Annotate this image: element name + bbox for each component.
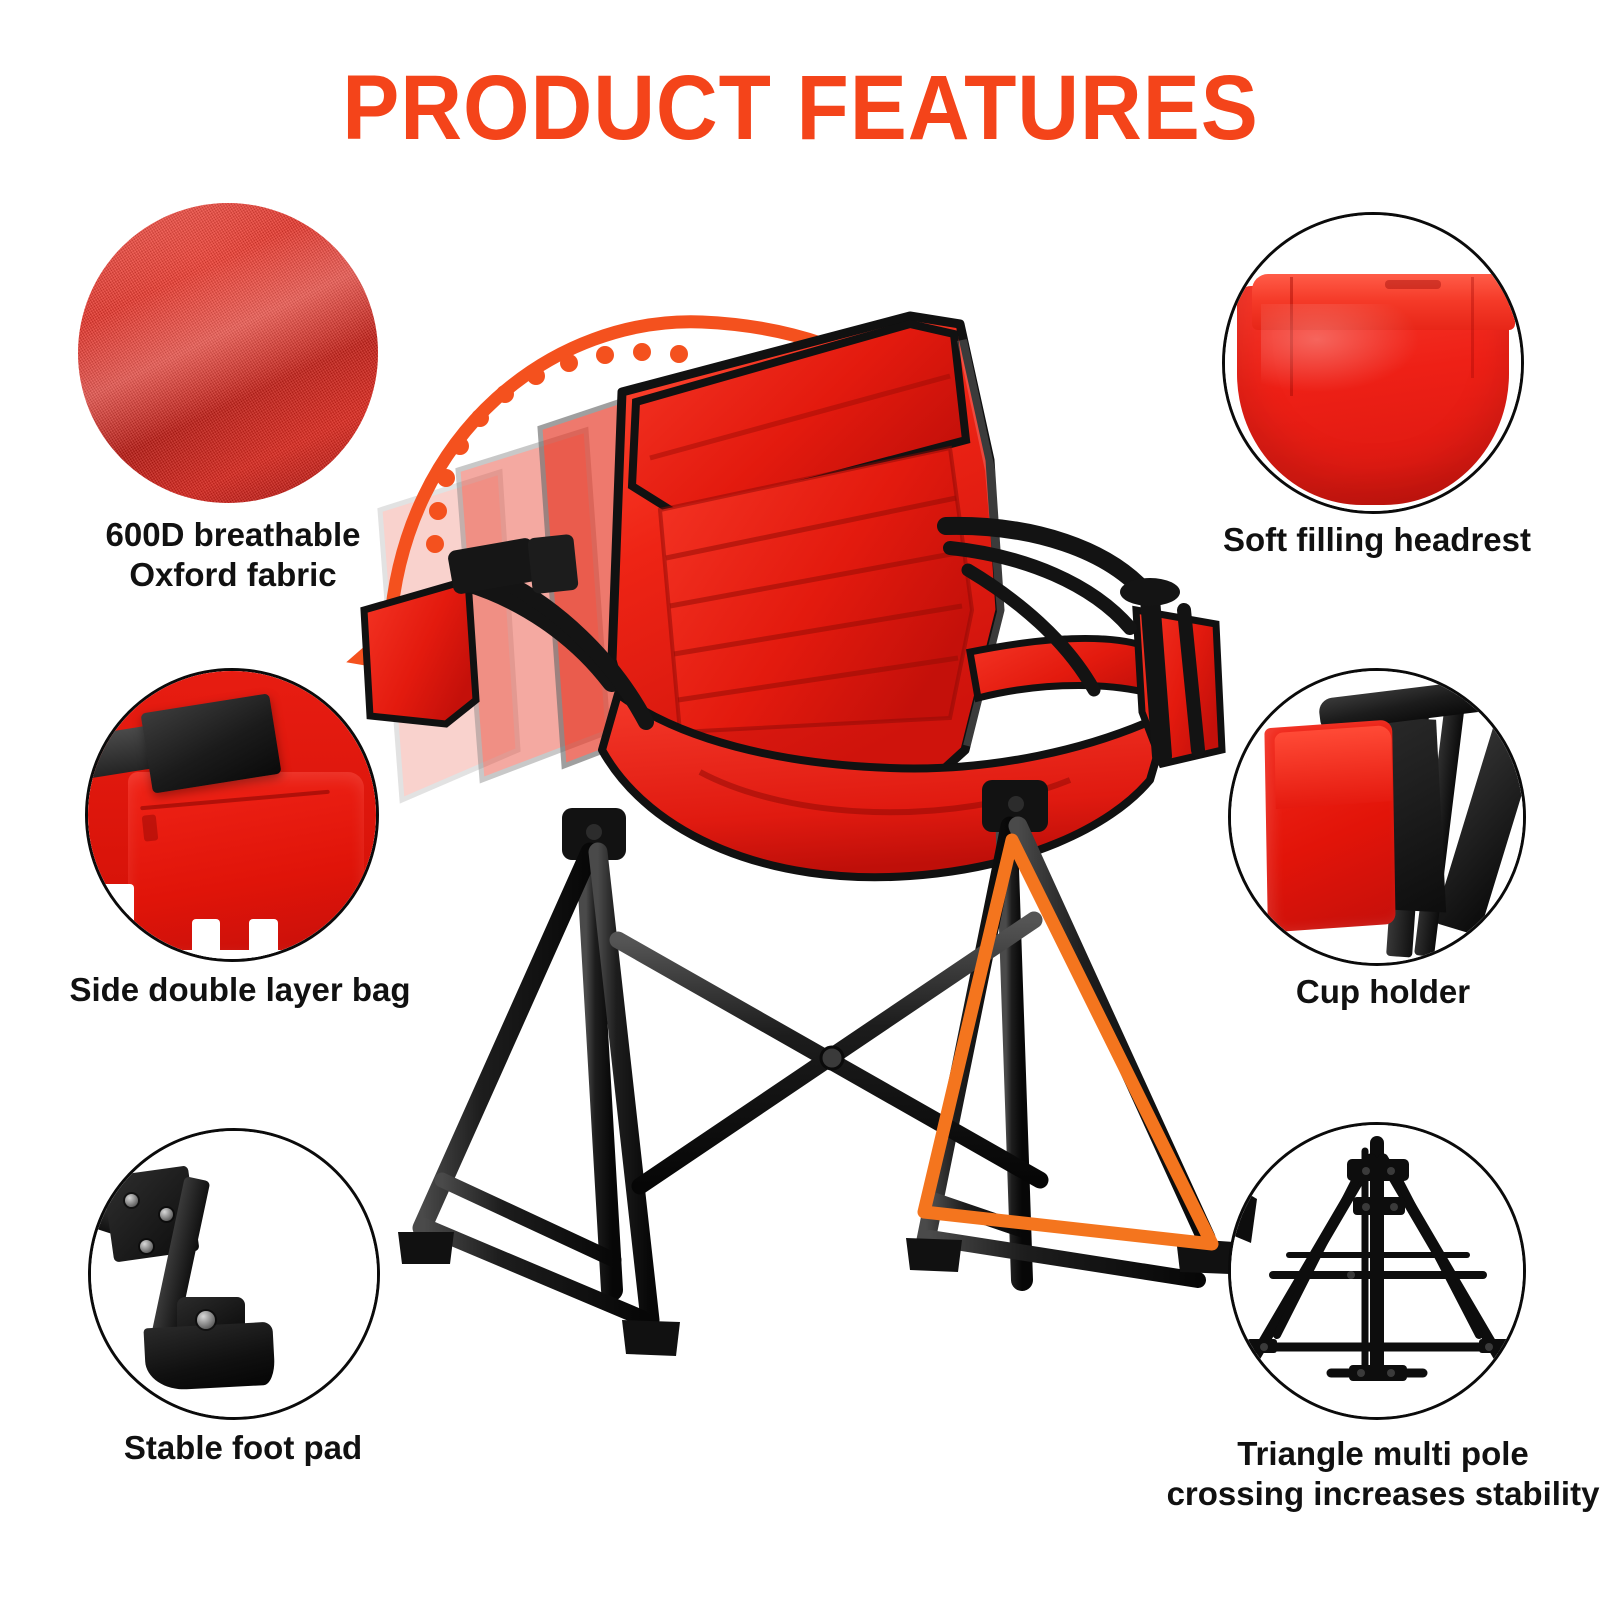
triangle-frame-icon <box>1228 1122 1526 1420</box>
feature-label-headrest: Soft filling headrest <box>1097 520 1601 560</box>
headrest-pillow-icon <box>1222 212 1524 514</box>
feature-label-foot-pad: Stable foot pad <box>0 1428 523 1468</box>
orange-triangle-brace-highlight <box>924 840 1212 1244</box>
feature-headrest: Soft filling headrest <box>1222 212 1532 612</box>
cup-holder-icon <box>1228 668 1526 966</box>
feature-oxford-fabric: 600D breathable Oxford fabric <box>78 203 388 603</box>
foot-pad-icon <box>88 1128 380 1420</box>
feature-label-side-bag: Side double layer bag <box>0 970 520 1010</box>
feature-triangle-base: Triangle multi pole crossing increases s… <box>1228 1122 1538 1542</box>
feature-cup-holder: Cup holder <box>1228 668 1538 1068</box>
page-title: PRODUCT FEATURES <box>56 62 1545 154</box>
feature-label-oxford-fabric: 600D breathable Oxford fabric <box>0 515 513 596</box>
feature-side-bag: Side double layer bag <box>85 668 395 1068</box>
product-image <box>350 280 1270 1400</box>
side-pocket-icon <box>85 668 379 962</box>
feature-foot-pad: Stable foot pad <box>88 1128 398 1528</box>
fabric-swatch-icon <box>78 203 378 503</box>
feature-label-triangle-base: Triangle multi pole crossing increases s… <box>1103 1434 1601 1515</box>
infographic-page: PRODUCT FEATURES <box>0 0 1601 1601</box>
feature-label-cup-holder: Cup holder <box>1103 972 1601 1012</box>
